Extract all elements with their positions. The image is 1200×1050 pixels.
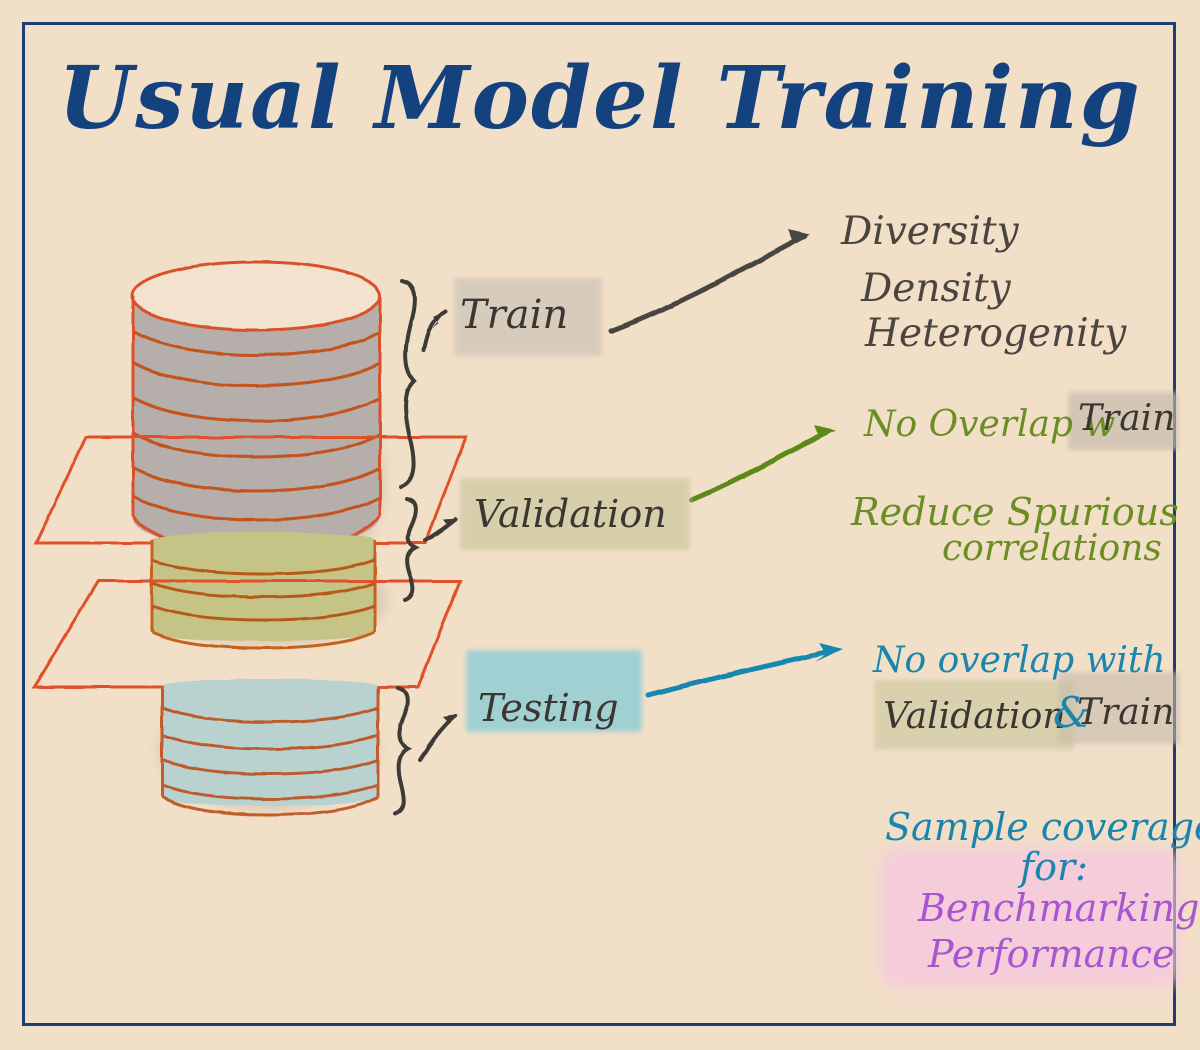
note-testing-line-1: No overlap with	[873, 640, 1166, 681]
note-train-line-2: Density	[861, 266, 1011, 311]
note-coverage-line-2: for:	[1020, 845, 1088, 889]
note-testing-train-word: Train	[1077, 692, 1174, 733]
label-testing: Testing	[478, 686, 619, 730]
arrowheads-small	[433, 311, 458, 728]
arrowhead-testing	[815, 643, 843, 662]
note-validation-line-3: correlations	[942, 528, 1162, 569]
brace-train	[401, 281, 414, 487]
note-validation-line-1-highlight: Train	[1078, 398, 1175, 439]
page-title: Usual Model Training	[0, 48, 1200, 149]
stack-validation	[152, 532, 375, 648]
stack-train	[132, 262, 380, 551]
arrowhead-validation	[808, 425, 836, 443]
arrow-brace-validation	[425, 519, 455, 540]
arrow-train-to-notes	[611, 236, 805, 331]
label-validation: Validation	[474, 492, 667, 536]
stack-shadows	[145, 370, 388, 810]
plane-train-validation	[36, 437, 466, 543]
note-coverage-line-4: Performance	[928, 932, 1175, 976]
note-coverage-line-3: Benchmarking	[918, 886, 1199, 930]
brace-testing	[395, 688, 408, 814]
note-testing-validation-word: Validation	[883, 696, 1066, 737]
arrow-testing-to-notes	[648, 652, 828, 695]
arrow-brace-testing	[420, 716, 455, 760]
brace-validation	[405, 499, 415, 600]
arrow-validation-to-notes	[692, 433, 826, 500]
stack-testing	[162, 679, 378, 815]
arrow-brace-train	[424, 311, 446, 350]
note-coverage-line-1: Sample coverage	[885, 805, 1200, 849]
arrowhead-train	[782, 229, 810, 248]
label-train: Train	[460, 292, 568, 338]
note-train-line-3: Heterogenity	[865, 311, 1126, 356]
note-train-line-1: Diversity	[841, 209, 1019, 254]
plane-validation-testing	[34, 581, 460, 687]
whiteboard-canvas: Usual Model Training	[0, 0, 1200, 1050]
